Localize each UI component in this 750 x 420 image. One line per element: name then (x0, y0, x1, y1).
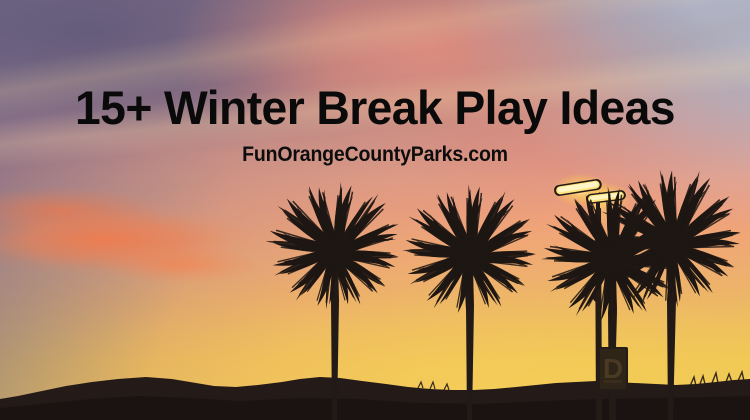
banner-image: D 15+ Winter Break Play Ideas FunOrangeC… (0, 0, 750, 420)
scene-silhouettes: D (0, 0, 750, 420)
mountain-ridge (0, 377, 750, 420)
parking-sign-letter: D (603, 353, 623, 384)
site-url-label: FunOrangeCountyParks.com (26, 144, 724, 165)
page-title: 15+ Winter Break Play Ideas (6, 84, 745, 131)
